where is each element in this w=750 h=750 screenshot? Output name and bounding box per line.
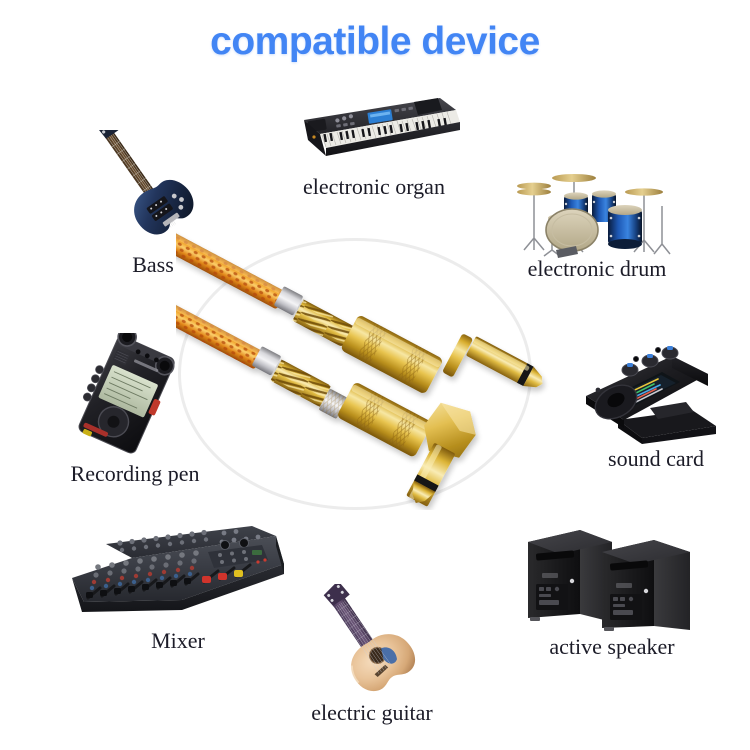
device-electronic-organ: electronic organ <box>286 90 462 210</box>
active-speaker-icon <box>514 518 710 640</box>
speaker-right <box>602 540 690 631</box>
straight-plug-assembly <box>176 230 548 395</box>
infographic-page: compatible device <box>0 0 750 750</box>
guitar-neck <box>333 598 374 649</box>
mixer-fader-red-1 <box>202 576 211 583</box>
speaker-left-led <box>570 579 574 583</box>
bass-guitar-icon <box>88 130 218 250</box>
drum-bass-drum <box>546 209 598 251</box>
device-electric-guitar: electric guitar <box>292 584 452 734</box>
electric-guitar-icon <box>292 584 452 699</box>
device-active-speaker: active speaker <box>514 518 710 668</box>
mixer-fader-yellow <box>234 570 243 577</box>
device-bass: Bass <box>88 130 218 290</box>
page-title: compatible device <box>0 20 750 64</box>
recording-pen-icon <box>62 333 208 463</box>
device-recording-pen: Recording pen <box>62 333 208 498</box>
caption-recording-pen: Recording pen <box>62 461 208 487</box>
mixer-icon <box>62 522 294 634</box>
center-product-cable <box>176 230 556 515</box>
drum-floor-tom <box>608 205 642 249</box>
soundcard-small-button <box>596 388 601 393</box>
device-mixer: Mixer <box>62 522 294 667</box>
speaker-right-led <box>644 589 648 593</box>
cable-illustration <box>176 230 556 510</box>
mixer-fader-red-2 <box>218 573 227 580</box>
caption-electronic-organ: electronic organ <box>286 174 462 200</box>
caption-electronic-drum: electronic drum <box>512 256 682 282</box>
device-electronic-drum: electronic drum <box>512 166 682 296</box>
electronic-drum-icon <box>512 166 682 261</box>
caption-mixer: Mixer <box>62 628 294 654</box>
electronic-organ-icon <box>286 90 462 176</box>
device-sound-card: sound card <box>576 334 736 484</box>
sound-card-icon <box>576 334 736 454</box>
caption-active-speaker: active speaker <box>514 634 710 660</box>
plug-barrel-upper <box>340 314 444 394</box>
drum-cymbals <box>517 174 663 196</box>
caption-electric-guitar: electric guitar <box>292 700 452 726</box>
caption-sound-card: sound card <box>576 446 736 472</box>
caption-bass: Bass <box>88 252 218 278</box>
speaker-left <box>528 530 612 622</box>
